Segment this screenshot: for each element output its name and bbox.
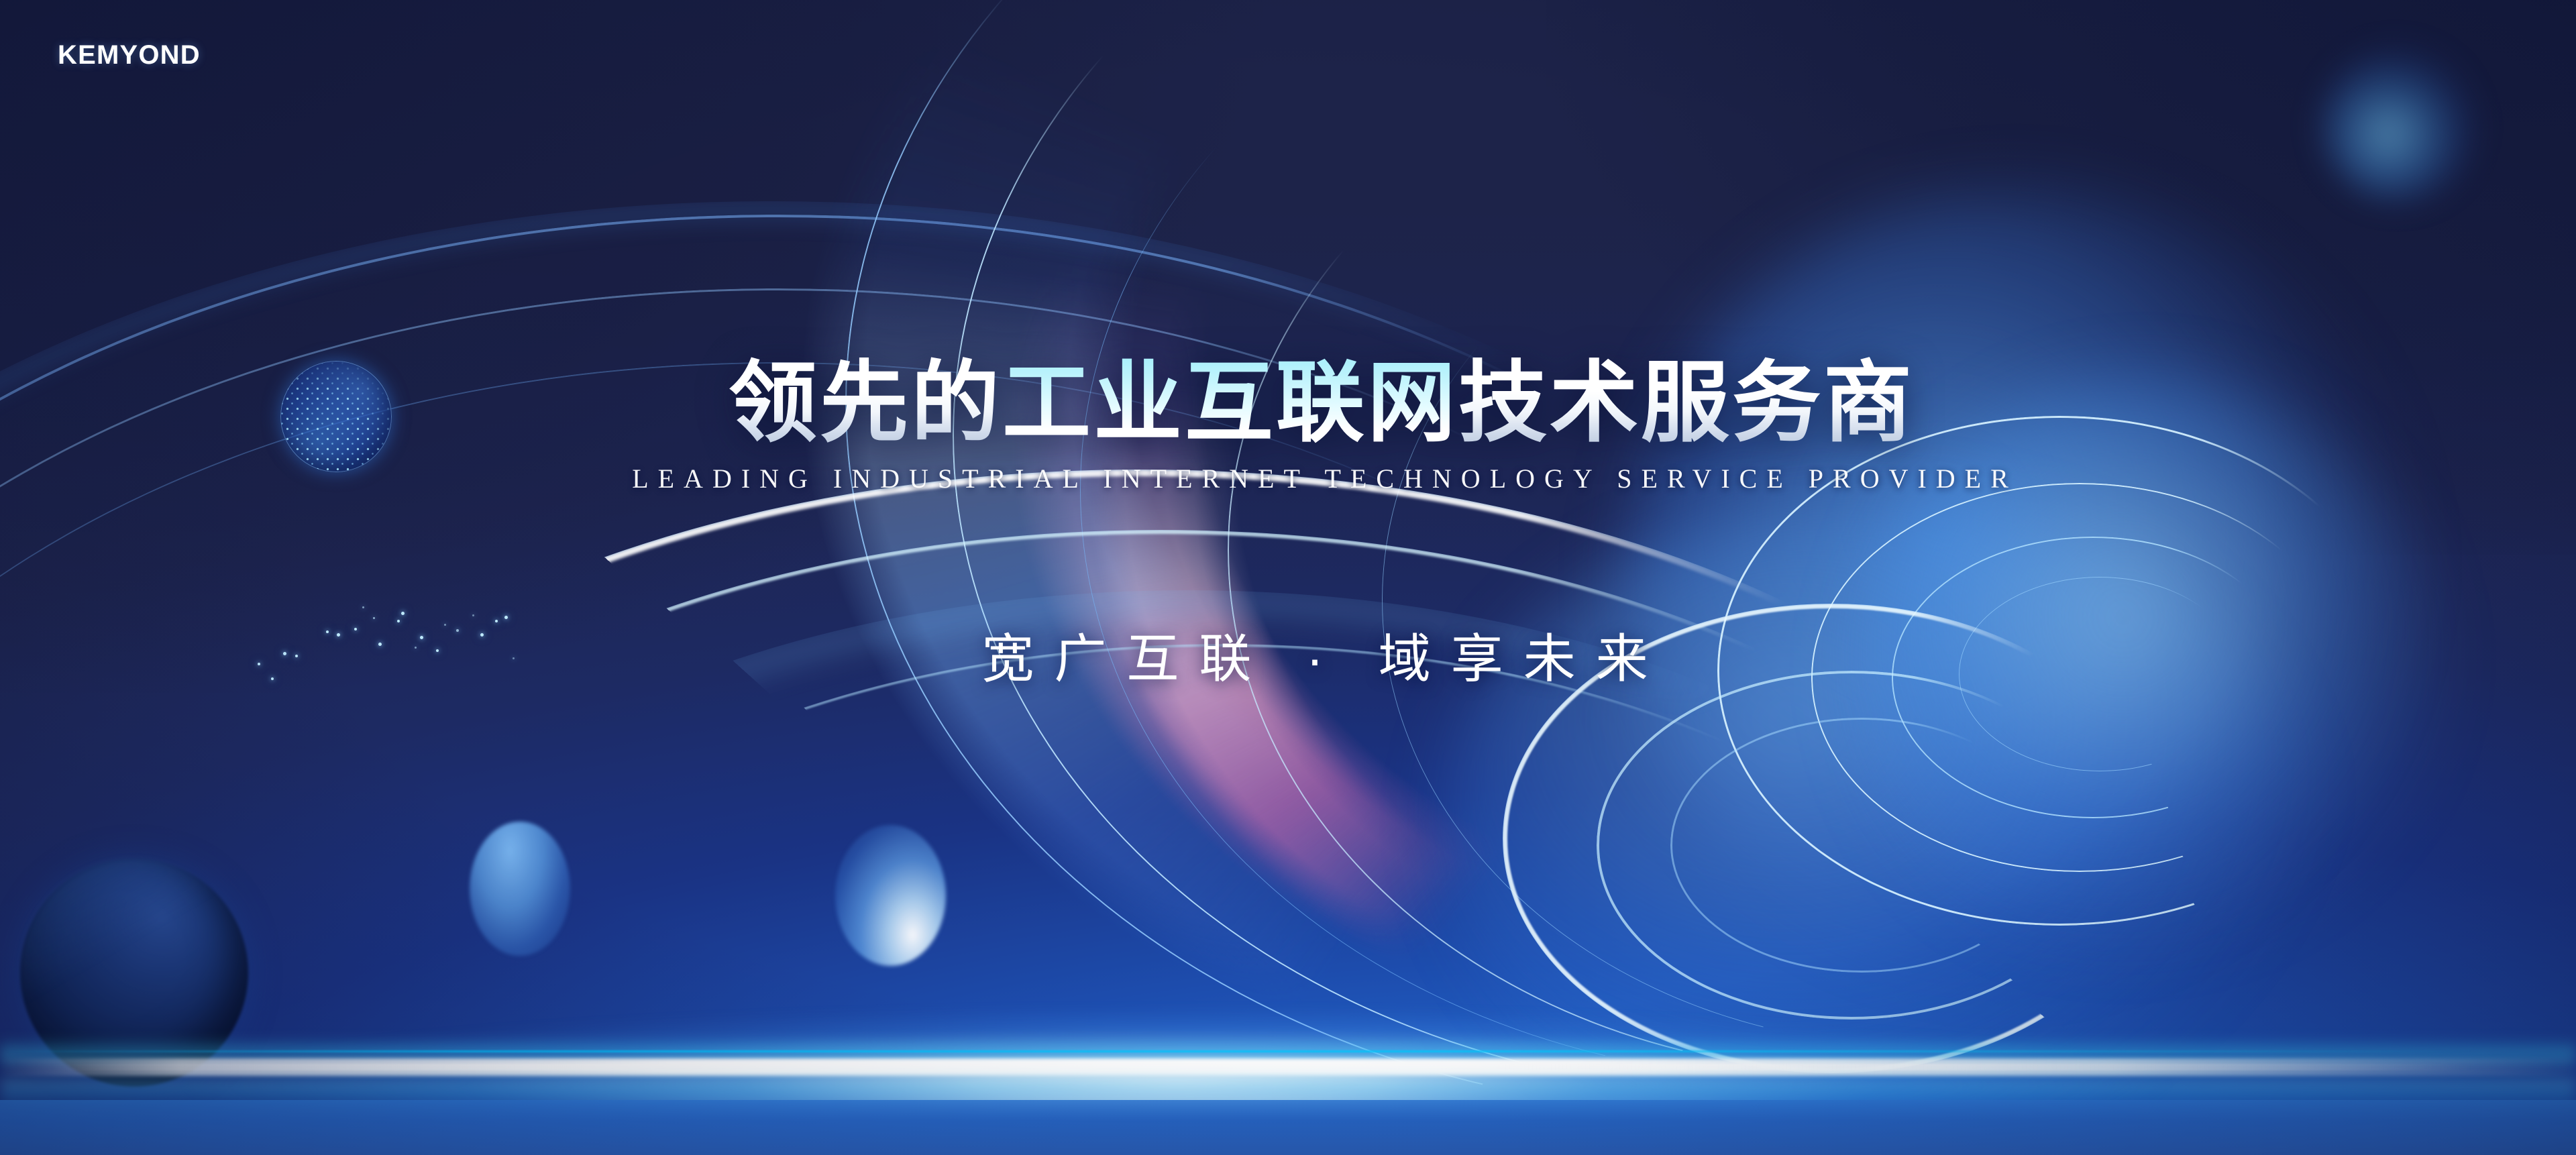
content-layer: KEMYOND 领先的工业互联网技术服务商 LEADING INDUSTRIAL… (0, 0, 2576, 1155)
subtitle-english: LEADING INDUSTRIAL INTERNET TECHNOLOGY S… (0, 463, 2576, 494)
page-title: 领先的工业互联网技术服务商 (0, 347, 2576, 458)
headline-segment-3: 技术服务商 (1458, 347, 1915, 458)
banner-root: KEMYOND 领先的工业互联网技术服务商 LEADING INDUSTRIAL… (0, 0, 2576, 1155)
tagline: 宽广互联 · 域享未来 (0, 617, 2576, 692)
headline-segment-1: 领先的 (729, 347, 1002, 458)
brand-logo[interactable]: KEMYOND (58, 42, 201, 68)
headline-segment-2: 工业互联网 (1002, 347, 1458, 458)
